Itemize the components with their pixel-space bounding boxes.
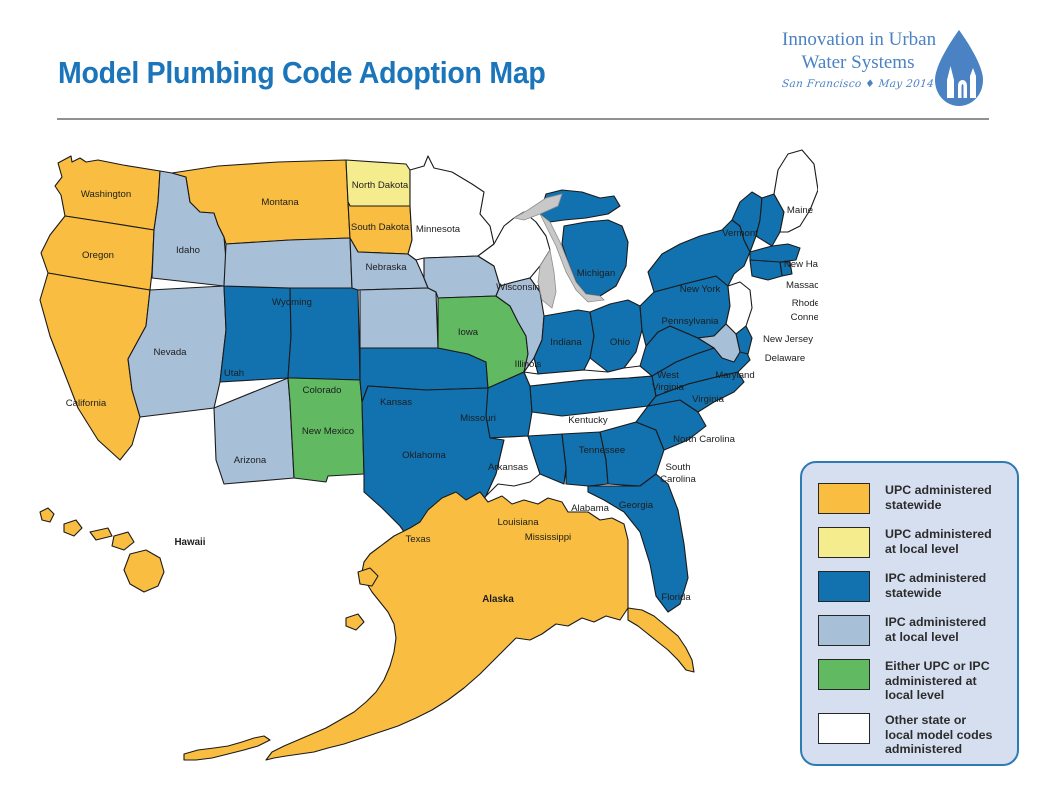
label-CT: Connecticut: [791, 312, 818, 323]
label-AK: Alaska: [482, 594, 514, 605]
conference-logo: Innovation in Urban Water Systems San Fr…: [782, 28, 994, 110]
legend-label-ipc-statewide: IPC administered statewide: [885, 570, 986, 600]
label-SC-2: Carolina: [660, 474, 696, 485]
state-CT[interactable]: [750, 260, 782, 280]
state-AK[interactable]: [266, 492, 628, 760]
label-HI: Hawaii: [174, 537, 205, 548]
label-OK: Oklahoma: [402, 450, 446, 461]
alaska-panhandle[interactable]: [628, 608, 694, 672]
label-IA: Iowa: [458, 327, 479, 338]
label-TN: Tennessee: [579, 445, 625, 456]
state-HI[interactable]: [124, 550, 164, 592]
state-MN[interactable]: [408, 156, 494, 260]
label-DE: Delaware: [765, 353, 806, 364]
logo-text-block: Innovation in Urban Water Systems San Fr…: [782, 28, 934, 90]
label-LA: Louisiana: [497, 517, 539, 528]
legend-label-upc-statewide: UPC administered statewide: [885, 482, 992, 512]
hawaii-oahu[interactable]: [64, 520, 82, 536]
label-IN: Indiana: [550, 337, 582, 348]
map-legend: UPC administered statewide UPC administe…: [800, 461, 1019, 766]
legend-swatch-other-codes: [818, 713, 870, 744]
label-MT: Montana: [261, 197, 299, 208]
legend-item-ipc-statewide[interactable]: IPC administered statewide: [818, 570, 986, 602]
page-title: Model Plumbing Code Adoption Map: [58, 55, 546, 91]
label-MN: Minnesota: [416, 224, 461, 235]
legend-swatch-upc-local: [818, 527, 870, 558]
state-NJ[interactable]: [726, 282, 752, 334]
water-droplet-skyline-icon: [925, 28, 993, 108]
alaska-island-2[interactable]: [346, 614, 364, 630]
label-KY: Kentucky: [568, 415, 608, 426]
label-MS: Mississippi: [525, 532, 571, 543]
legend-label-upc-local: UPC administered at local level: [885, 526, 992, 556]
label-OH: Ohio: [610, 337, 630, 348]
label-FL: Florida: [661, 592, 691, 603]
label-KS: Kansas: [380, 397, 412, 408]
label-ID: Idaho: [176, 245, 200, 256]
label-AR: Arkansas: [488, 462, 528, 473]
legend-label-either-local: Either UPC or IPC administered at local …: [885, 658, 990, 703]
label-NE: Nebraska: [365, 262, 407, 273]
label-ME: Maine: [787, 205, 813, 216]
label-CO: Colorado: [303, 385, 342, 396]
label-WV-2: Virginia: [652, 382, 684, 393]
state-AZ[interactable]: [214, 378, 294, 484]
label-MA: Massachusetts: [786, 280, 818, 291]
label-SD: South Dakota: [351, 222, 410, 233]
label-CA: California: [66, 398, 107, 409]
logo-line-1: Innovation in Urban: [782, 28, 934, 51]
label-WV: West: [657, 370, 679, 381]
label-MI: Michigan: [577, 268, 615, 279]
label-TX: Texas: [405, 534, 430, 545]
slide-canvas: Model Plumbing Code Adoption Map Innovat…: [0, 0, 1043, 803]
alaska-aleutians[interactable]: [184, 736, 270, 760]
legend-label-other-codes: Other state or local model codes adminis…: [885, 712, 992, 757]
label-GA: Georgia: [619, 500, 654, 511]
legend-item-upc-statewide[interactable]: UPC administered statewide: [818, 482, 992, 514]
legend-item-other-codes[interactable]: Other state or local model codes adminis…: [818, 712, 992, 757]
legend-swatch-ipc-statewide: [818, 571, 870, 602]
label-NM: New Mexico: [302, 426, 354, 437]
legend-item-either-local[interactable]: Either UPC or IPC administered at local …: [818, 658, 990, 703]
logo-subtitle: San Francisco ♦ May 2014: [781, 78, 934, 90]
label-MO: Missouri: [460, 413, 496, 424]
hawaii-maui[interactable]: [112, 532, 134, 550]
title-divider: [57, 118, 989, 120]
legend-swatch-upc-statewide: [818, 483, 870, 514]
hawaii-kauai[interactable]: [40, 508, 54, 522]
label-NH: New Hampshire: [784, 259, 818, 270]
label-UT: Utah: [224, 368, 244, 379]
label-NY: New York: [680, 284, 721, 295]
label-OR: Oregon: [82, 250, 114, 261]
legend-item-upc-local[interactable]: UPC administered at local level: [818, 526, 992, 558]
label-ND: North Dakota: [352, 180, 409, 191]
label-SC: South: [665, 462, 690, 473]
label-NJ: New Jersey: [763, 334, 813, 345]
header: Model Plumbing Code Adoption Map Innovat…: [0, 0, 1043, 126]
label-AL: Alabama: [571, 503, 610, 514]
label-NV: Nevada: [153, 347, 187, 358]
legend-label-ipc-local: IPC administered at local level: [885, 614, 986, 644]
legend-item-ipc-local[interactable]: IPC administered at local level: [818, 614, 986, 646]
us-choropleth-map[interactable]: Washington Oregon California Montana Sou…: [28, 140, 818, 780]
label-MD: Maryland: [715, 370, 754, 381]
label-VT: Vermont: [722, 228, 758, 239]
state-OH[interactable]: [590, 300, 642, 372]
label-VA: Virginia: [692, 394, 724, 405]
label-NC: North Carolina: [673, 434, 736, 445]
logo-line-2: Water Systems: [782, 51, 934, 74]
state-AL[interactable]: [562, 432, 608, 486]
label-WY: Wyoming: [272, 297, 312, 308]
label-PA: Pennsylvania: [661, 316, 719, 327]
label-AZ: Arizona: [234, 455, 267, 466]
label-RI: Rhode Island: [792, 298, 818, 309]
legend-swatch-ipc-local: [818, 615, 870, 646]
hawaii-molokai[interactable]: [90, 528, 112, 540]
legend-swatch-either-local: [818, 659, 870, 690]
state-WY[interactable]: [224, 238, 352, 288]
label-WA: Washington: [81, 189, 131, 200]
label-IL: Illinois: [515, 359, 542, 370]
label-WI: Wisconsin: [496, 282, 540, 293]
